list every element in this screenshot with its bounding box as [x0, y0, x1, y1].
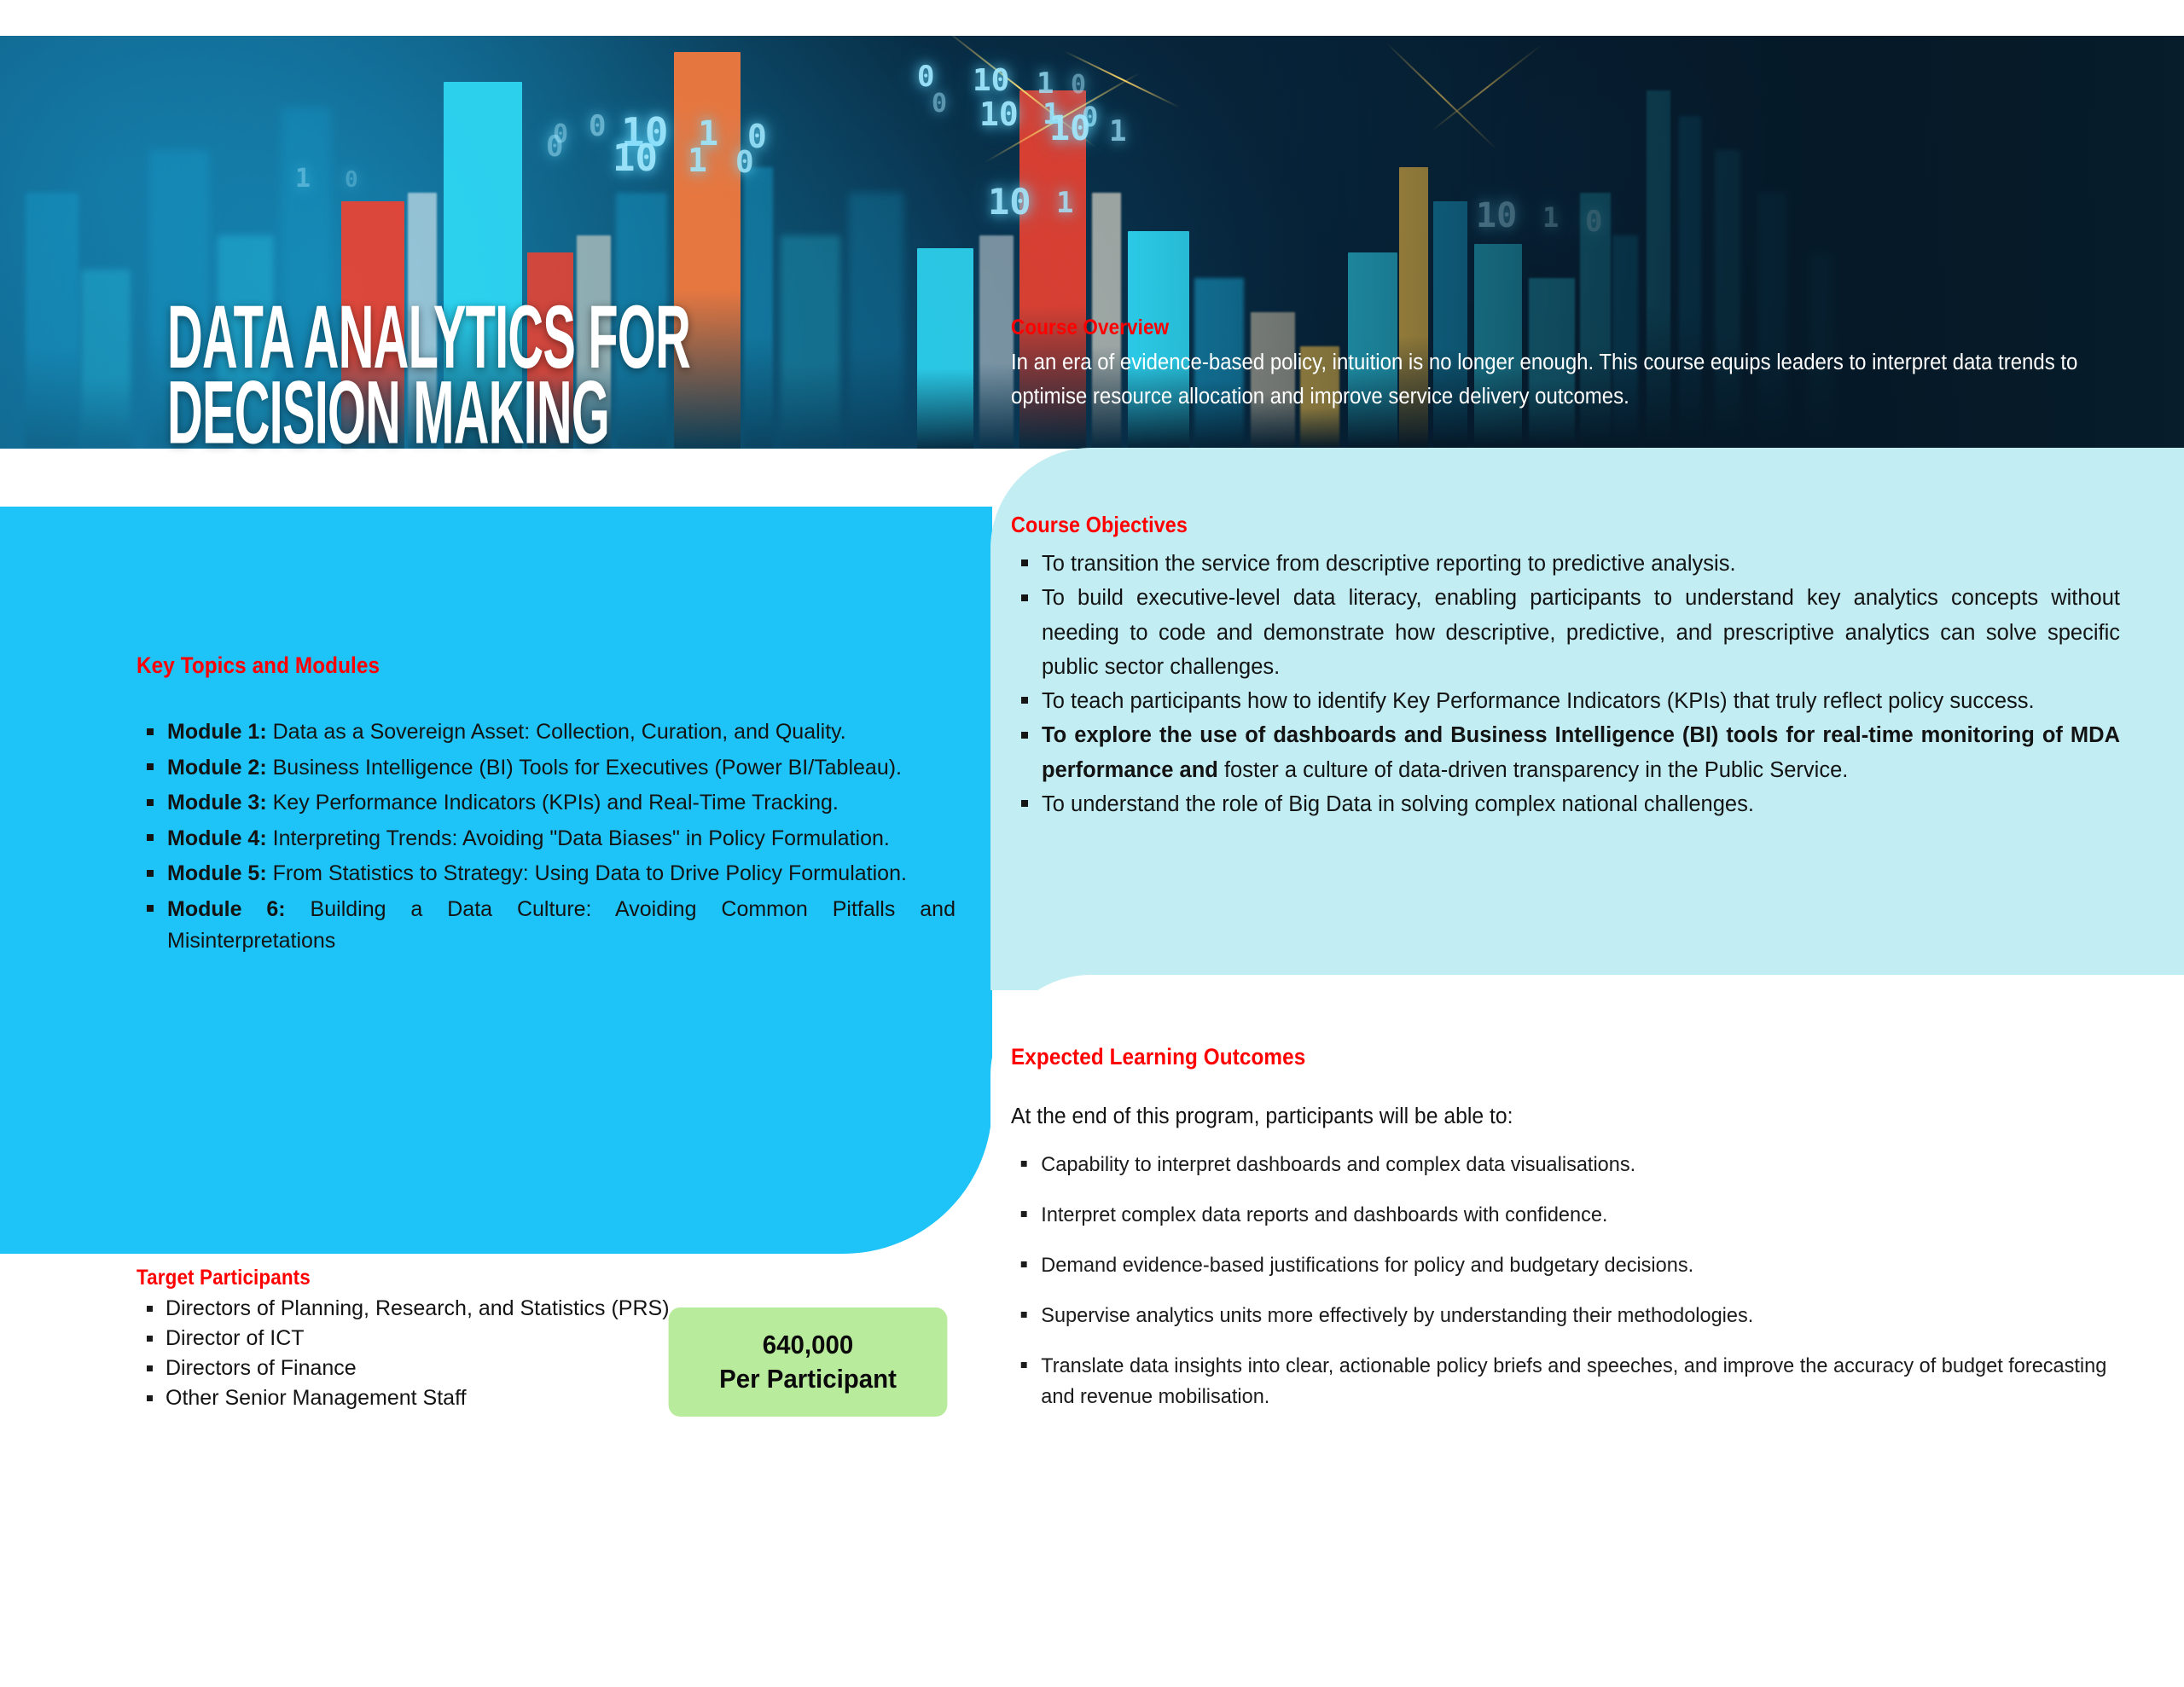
learning-outcome-item: Translate data insights into clear, acti… — [1011, 1351, 2123, 1412]
learning-outcomes-intro: At the end of this program, participants… — [1011, 1104, 2111, 1129]
module-text: Data as a Sovereign Asset: Collection, C… — [267, 720, 846, 744]
module-list-item: Module 4: Interpreting Trends: Avoiding … — [136, 823, 955, 855]
objective-list-item: To explore the use of dashboards and Bus… — [1011, 718, 2120, 787]
target-participants-section: Target Participants Directors of Plannin… — [136, 1266, 682, 1413]
course-objectives-section: Course Objectives To transition the serv… — [1011, 512, 2120, 821]
module-label: Module 3: — [167, 791, 267, 815]
page-title: DATA ANALYTICS FOR DECISION MAKING — [167, 300, 735, 450]
module-label: Module 6: — [167, 897, 286, 921]
module-list-item: Module 2: Business Intelligence (BI) Too… — [136, 752, 955, 785]
module-text: Building a Data Culture: Avoiding Common… — [167, 897, 955, 954]
learning-outcomes-list: Capability to interpret dashboards and c… — [1011, 1150, 2146, 1412]
price-badge: 640,000 Per Participant — [669, 1307, 948, 1417]
module-list-item: Module 5: From Statistics to Strategy: U… — [136, 858, 955, 890]
module-text: From Statistics to Strategy: Using Data … — [267, 861, 907, 885]
objective-list-item: To understand the role of Big Data in so… — [1011, 787, 2120, 821]
module-list-item: Module 6: Building a Data Culture: Avoid… — [136, 894, 955, 958]
module-text: Key Performance Indicators (KPIs) and Re… — [267, 791, 839, 815]
learning-outcome-item: Demand evidence-based justifications for… — [1011, 1250, 2123, 1281]
module-text: Interpreting Trends: Avoiding "Data Bias… — [267, 826, 890, 850]
modules-list: Module 1: Data as a Sovereign Asset: Col… — [136, 716, 955, 958]
objective-text: To build executive-level data literacy, … — [1042, 586, 2120, 679]
target-participants-list: Directors of Planning, Research, and Sta… — [136, 1294, 682, 1413]
objective-text: To transition the service from descripti… — [1042, 552, 1736, 576]
objective-list-item: To teach participants how to identify Ke… — [1011, 684, 2120, 718]
module-label: Module 4: — [167, 826, 267, 850]
objective-text: foster a culture of data-driven transpar… — [1218, 758, 1848, 782]
course-objectives-list: To transition the service from descripti… — [1011, 547, 2120, 821]
key-topics-section: Key Topics and Modules Module 1: Data as… — [136, 652, 955, 961]
module-list-item: Module 3: Key Performance Indicators (KP… — [136, 787, 955, 820]
course-overview-heading: Course Overview — [1011, 316, 2009, 340]
learning-outcomes-heading: Expected Learning Outcomes — [1011, 1044, 2032, 1070]
module-text: Business Intelligence (BI) Tools for Exe… — [267, 756, 902, 780]
learning-outcome-item: Supervise analytics units more effective… — [1011, 1301, 2123, 1331]
learning-outcome-item: Capability to interpret dashboards and c… — [1011, 1150, 2123, 1180]
target-participants-heading: Target Participants — [136, 1266, 628, 1290]
target-participant-item: Directors of Planning, Research, and Sta… — [136, 1294, 682, 1324]
price-amount: 640,000 — [763, 1328, 853, 1362]
course-overview-body: In an era of evidence-based policy, intu… — [1011, 346, 2117, 415]
module-list-item: Module 1: Data as a Sovereign Asset: Col… — [136, 716, 955, 749]
module-label: Module 2: — [167, 756, 267, 780]
key-topics-heading: Key Topics and Modules — [136, 652, 874, 679]
learning-outcome-item: Interpret complex data reports and dashb… — [1011, 1200, 2123, 1231]
price-unit: Per Participant — [719, 1362, 897, 1396]
module-label: Module 5: — [167, 861, 267, 885]
target-participant-item: Other Senior Management Staff — [136, 1383, 682, 1413]
target-participant-item: Directors of Finance — [136, 1354, 682, 1383]
objective-text: To teach participants how to identify Ke… — [1042, 689, 2035, 713]
objective-list-item: To build executive-level data literacy, … — [1011, 581, 2120, 684]
learning-outcomes-section: Expected Learning Outcomes At the end of… — [1011, 1044, 2146, 1432]
course-objectives-heading: Course Objectives — [1011, 512, 2009, 538]
course-overview-section: Course Overview In an era of evidence-ba… — [1011, 316, 2120, 415]
target-participant-item: Director of ICT — [136, 1324, 682, 1354]
objective-text: To understand the role of Big Data in so… — [1042, 792, 1754, 816]
module-label: Module 1: — [167, 720, 267, 744]
objective-list-item: To transition the service from descripti… — [1011, 547, 2120, 581]
